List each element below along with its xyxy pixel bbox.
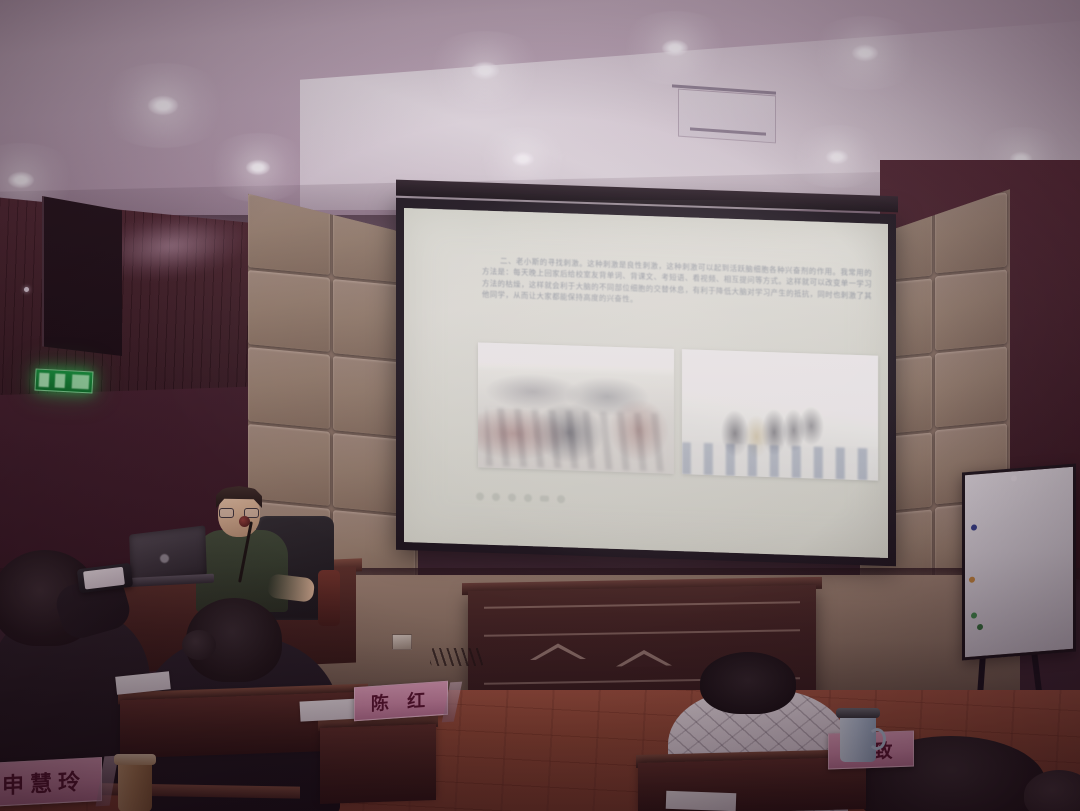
podium-chevron-left [530, 643, 586, 660]
nameplate-shen-huiling: 申慧玲 [0, 757, 102, 807]
ceiling-downlight-3 [246, 160, 270, 175]
whiteboard-magnet-1[interactable] [971, 524, 977, 530]
monitor-led-icon [24, 287, 29, 292]
podium-inlay-line-mid [484, 629, 800, 637]
classroom-group-discussion-photo [478, 342, 674, 474]
wall-mounted-monitor [42, 196, 122, 356]
emergency-exit-sign [34, 368, 93, 393]
conference-hall-scene: 二、老小斯的寻找刺激。这种刺激是良性刺激，这种刺激可以起到活跃脑细胞各种兴奋剂的… [0, 0, 1080, 811]
attendee-seated-center-bun [182, 630, 216, 660]
acoustic-pad [248, 424, 330, 506]
slide-paragraph: 二、老小斯的寻找刺激。这种刺激是良性刺激，这种刺激可以起到活跃脑细胞各种兴奋剂的… [482, 255, 872, 314]
ceiling-downlight-4 [471, 62, 499, 79]
acoustic-pad [935, 270, 1007, 351]
laptop-logo-icon [160, 554, 169, 563]
star-icon [524, 494, 532, 502]
ceiling-downlight-5 [512, 152, 534, 166]
notepaper-right [666, 791, 737, 811]
floor-power-outlet [392, 634, 412, 650]
slide-paragraph-text: 二、老小斯的寻找刺激。这种刺激是良性刺激，这种刺激可以起到活跃脑细胞各种兴奋剂的… [482, 256, 872, 304]
attendee-white-blouse-hair [700, 652, 796, 714]
nameplate-chen-hong-text: 陈 红 [371, 686, 431, 716]
circle-icon [476, 492, 484, 500]
acoustic-pad [935, 347, 1007, 428]
slide-photo-row [478, 342, 878, 480]
ceiling-downlight-8 [852, 45, 878, 61]
ceiling-downlight-2 [148, 96, 178, 115]
pen-icon [508, 493, 516, 501]
slide-toolbar-icons [476, 492, 565, 503]
whiteboard-magnet-5[interactable] [1011, 475, 1017, 481]
center-table-front [320, 724, 436, 804]
blue-mug-lid [836, 708, 880, 718]
podium-inlay-line-top [484, 601, 800, 609]
nameplate-shen-huiling-text: 申慧玲 [2, 764, 86, 800]
thermos-cup [118, 758, 152, 811]
nameplate-chen-hong: 陈 红 [354, 681, 448, 722]
whiteboard-magnet-3[interactable] [971, 612, 977, 618]
whiteboard-magnet-2[interactable] [969, 576, 975, 582]
cable-bundle [430, 648, 484, 666]
ceiling-downlight-7 [826, 150, 848, 164]
dot-icon [557, 495, 565, 503]
shape-icon [492, 493, 500, 501]
eyeglasses-icon [219, 508, 259, 518]
projected-slide: 二、老小斯的寻找刺激。这种刺激是良性刺激，这种刺激可以起到活跃脑细胞各种兴奋剂的… [404, 208, 888, 558]
blue-mug-handle [868, 728, 886, 750]
ceiling-downlight-1 [8, 172, 34, 188]
ceiling-downlight-6 [662, 40, 688, 56]
rect-icon [540, 495, 549, 501]
smartphone-screen [83, 567, 125, 590]
whiteboard [962, 464, 1076, 661]
thermos-cup-lid [114, 754, 156, 765]
acoustic-pad [248, 347, 330, 429]
microphone-icon [239, 516, 250, 527]
computer-lab-photo [682, 349, 878, 481]
presenter-chair-arm [318, 570, 340, 626]
acoustic-pad [248, 270, 330, 352]
whiteboard-magnet-4[interactable] [977, 624, 983, 630]
podium-chevron-right [616, 649, 672, 666]
